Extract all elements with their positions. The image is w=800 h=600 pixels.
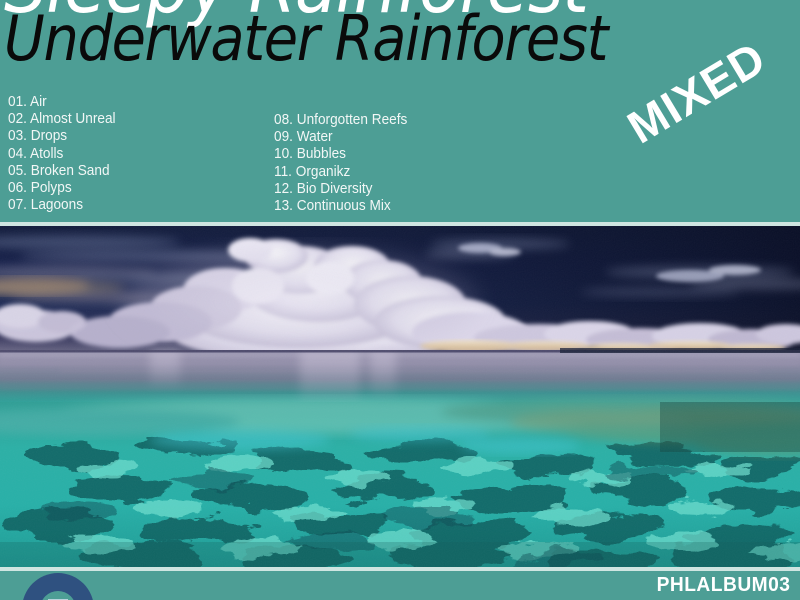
track-row: 01. Air [8,94,116,111]
header-band: Sleepy Rainforest Underwater Rainforest … [0,0,800,226]
cover-photograph [0,226,800,567]
footer-band: PHLALBUM03 [0,571,800,600]
tracklist-left-column: 01. Air 02. Almost Unreal 03. Drops 04. … [8,94,116,214]
record-label-logo-icon [22,573,94,600]
reef-photo-illustration [0,226,800,567]
track-row: 02. Almost Unreal [8,111,116,128]
catalog-number: PHLALBUM03 [656,574,790,597]
mixed-badge: MIXED [618,30,775,154]
track-row: 03. Drops [8,128,116,145]
track-row: 07. Lagoons [8,197,116,214]
tracklist-right-column: 08. Unforgotten Reefs 09. Water 10. Bubb… [274,112,407,215]
track-row: 11. Organikz [274,164,407,181]
track-row: 05. Broken Sand [8,163,116,180]
track-row: 06. Polyps [8,180,116,197]
track-row: 10. Bubbles [274,146,407,163]
album-title: Underwater Rainforest [4,6,607,71]
track-row: 08. Unforgotten Reefs [274,112,407,129]
track-row: 12. Bio Diversity [274,181,407,198]
track-row: 09. Water [274,129,407,146]
track-row: 04. Atolls [8,146,116,163]
album-cover: Sleepy Rainforest Underwater Rainforest … [0,0,800,600]
track-row: 13. Continuous Mix [274,198,407,215]
